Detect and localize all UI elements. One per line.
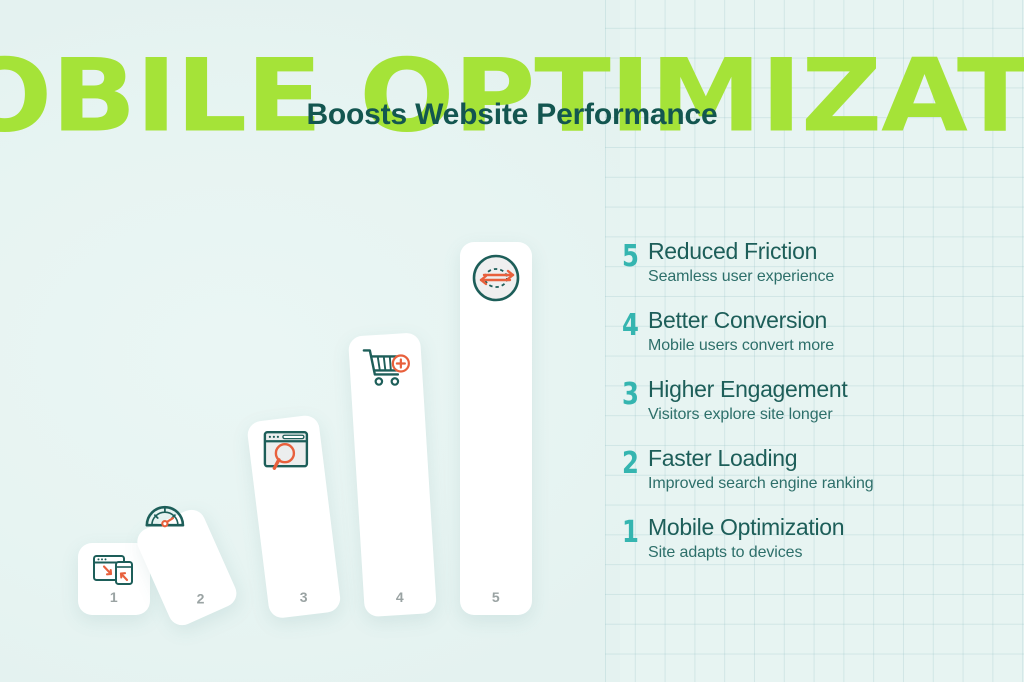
list-item-body: Better Conversion Mobile users convert m… xyxy=(648,307,1002,356)
list-item-subtitle: Mobile users convert more xyxy=(648,335,1002,356)
infographic-poster: MOBILE OPTIMIZATION Boosts Website Perfo… xyxy=(0,0,1024,682)
shopping-cart-add-icon xyxy=(360,344,412,390)
list-item-subtitle: Seamless user experience xyxy=(648,266,1002,287)
chart-bar-label: 4 xyxy=(396,589,404,605)
list-item-body: Faster Loading Improved search engine ra… xyxy=(648,445,1002,494)
list-item-subtitle: Visitors explore site longer xyxy=(648,404,1002,425)
chart-bar-5: 5 xyxy=(460,242,532,615)
list-item-number: 3 xyxy=(622,376,645,411)
list-item: 5 Reduced Friction Seamless user experie… xyxy=(622,238,1002,287)
chart-bar-4: 4 xyxy=(348,332,437,617)
list-item-number: 4 xyxy=(622,307,645,342)
chart-bar-label: 5 xyxy=(492,589,500,605)
list-item-number: 1 xyxy=(622,514,645,549)
list-item: 1 Mobile Optimization Site adapts to dev… xyxy=(622,514,1002,563)
list-item-body: Reduced Friction Seamless user experienc… xyxy=(648,238,1002,287)
list-item-subtitle: Site adapts to devices xyxy=(648,542,1002,563)
list-item-number: 2 xyxy=(622,445,645,480)
friction-arrows-icon xyxy=(470,252,522,304)
chart-bar-label: 3 xyxy=(300,589,308,605)
list-item-body: Higher Engagement Visitors explore site … xyxy=(648,376,1002,425)
bar-chart: 1 2 xyxy=(60,215,620,615)
page-subtitle: Boosts Website Performance xyxy=(0,98,1024,132)
benefits-list: 5 Reduced Friction Seamless user experie… xyxy=(622,238,1002,563)
list-item: 4 Better Conversion Mobile users convert… xyxy=(622,307,1002,356)
chart-bar-label: 1 xyxy=(110,589,118,605)
chart-bar-label: 2 xyxy=(197,591,205,607)
browser-mobile-icon xyxy=(92,553,136,587)
chart-bar-2: 2 xyxy=(133,505,241,629)
list-item-subtitle: Improved search engine ranking xyxy=(648,473,1002,494)
list-item-title: Better Conversion xyxy=(648,307,1002,334)
list-item-title: Reduced Friction xyxy=(648,238,1002,265)
list-item-title: Higher Engagement xyxy=(648,376,1002,403)
list-item: 3 Higher Engagement Visitors explore sit… xyxy=(622,376,1002,425)
speedometer-icon xyxy=(140,494,190,542)
browser-search-icon xyxy=(261,428,311,474)
chart-bar-1: 1 xyxy=(78,543,150,615)
chart-bar-3: 3 xyxy=(246,414,342,619)
list-item-body: Mobile Optimization Site adapts to devic… xyxy=(648,514,1002,563)
list-item-title: Faster Loading xyxy=(648,445,1002,472)
list-item: 2 Faster Loading Improved search engine … xyxy=(622,445,1002,494)
list-item-number: 5 xyxy=(622,238,645,273)
list-item-title: Mobile Optimization xyxy=(648,514,1002,541)
